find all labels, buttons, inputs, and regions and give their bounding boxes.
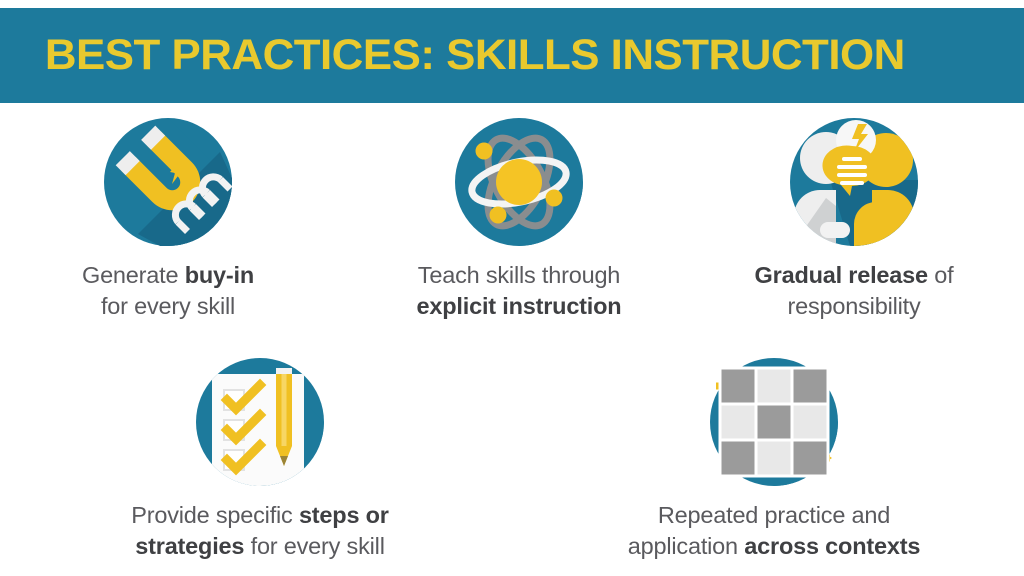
caption-steps-or-strategies: Provide specific steps or strategies for… (90, 500, 430, 563)
card-buy-in: Generate buy-in for every skill (0, 118, 338, 323)
caption-text-bold: strategies (135, 533, 244, 559)
caption-text-plain: for every skill (244, 533, 384, 559)
caption-text-plain: Generate (82, 262, 185, 288)
caption-text-bold: Gradual release (755, 262, 928, 288)
caption-line-2: explicit instruction (349, 291, 689, 322)
caption-text-plain: of (928, 262, 954, 288)
caption-across-contexts: Repeated practice and application across… (604, 500, 944, 563)
card-steps-or-strategies: Provide specific steps or strategies for… (90, 358, 430, 563)
two-people-speech-bubbles-icon (790, 118, 918, 246)
network-grid-icon (710, 358, 838, 486)
caption-text-plain: for every skill (101, 293, 235, 319)
caption-text-plain: responsibility (787, 293, 920, 319)
caption-line-2: application across contexts (604, 531, 944, 562)
caption-text-plain: Provide specific (131, 502, 299, 528)
cards-grid: Generate buy-in for every skill (0, 103, 1024, 576)
caption-text-plain: Teach skills through (418, 262, 620, 288)
caption-text-plain: application (628, 533, 745, 559)
caption-text-bold: buy-in (185, 262, 254, 288)
atom-icon (455, 118, 583, 246)
caption-text-bold: explicit instruction (417, 293, 622, 319)
card-across-contexts: Repeated practice and application across… (604, 358, 944, 563)
caption-line-2: strategies for every skill (90, 531, 430, 562)
card-gradual-release: Gradual release of responsibility (684, 118, 1024, 323)
card-explicit-instruction: Teach skills through explicit instructio… (349, 118, 689, 323)
caption-text-plain: Repeated practice and (658, 502, 890, 528)
header-bar: BEST PRACTICES: SKILLS INSTRUCTION (0, 8, 1024, 103)
caption-line-2: responsibility (684, 291, 1024, 322)
caption-line-1: Teach skills through (349, 260, 689, 291)
caption-line-1: Generate buy-in (0, 260, 338, 291)
caption-text-bold: steps or (299, 502, 389, 528)
slide: BEST PRACTICES: SKILLS INSTRUCTION (0, 0, 1024, 576)
caption-buy-in: Generate buy-in for every skill (0, 260, 338, 323)
caption-line-1: Gradual release of (684, 260, 1024, 291)
page-title: BEST PRACTICES: SKILLS INSTRUCTION (0, 31, 905, 80)
caption-line-1: Repeated practice and (604, 500, 944, 531)
caption-gradual-release: Gradual release of responsibility (684, 260, 1024, 323)
checklist-pencil-icon (196, 358, 324, 486)
magnet-icon (104, 118, 232, 246)
caption-explicit-instruction: Teach skills through explicit instructio… (349, 260, 689, 323)
caption-line-1: Provide specific steps or (90, 500, 430, 531)
caption-line-2: for every skill (0, 291, 338, 322)
caption-text-bold: across contexts (744, 533, 920, 559)
